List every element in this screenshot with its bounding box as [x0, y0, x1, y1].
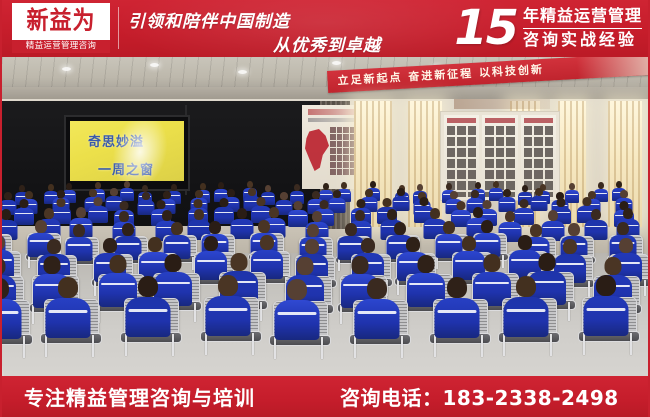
seated-attendee: [46, 277, 91, 338]
uniform-reflective-stripe: [277, 312, 317, 315]
attendee-head: [617, 222, 629, 235]
attendee-head: [122, 223, 134, 236]
attendee-head: [361, 238, 375, 253]
attendee-head: [2, 200, 3, 209]
attendee-head: [539, 253, 556, 271]
attendee-head: [247, 181, 253, 188]
attendee-head: [171, 222, 183, 235]
attendee-head: [57, 198, 66, 207]
attendee-head: [162, 210, 172, 221]
uniform-reflective-stripe: [121, 192, 133, 193]
chair-leg: [630, 333, 632, 355]
chair-leg: [644, 280, 646, 296]
uniform-reflective-stripe: [208, 308, 248, 311]
attendee-head: [569, 183, 575, 190]
attendee-head: [370, 181, 376, 188]
attendee-head: [124, 181, 130, 188]
attendee-head: [4, 192, 12, 200]
seated-attendee: [275, 279, 320, 340]
attendee-head: [520, 199, 529, 208]
attendee-head: [94, 197, 103, 206]
attendee-head: [44, 256, 61, 274]
attendee-head: [312, 211, 322, 222]
attendee-head: [57, 190, 65, 198]
slogan-line-2: 从优秀到卓越: [273, 31, 381, 56]
attendee-head: [462, 236, 476, 251]
attendee-head: [200, 183, 206, 190]
attendee-uniform: [499, 197, 516, 212]
attendee-head: [352, 256, 369, 274]
attendee-head: [312, 191, 320, 199]
attendee-uniform: [435, 298, 480, 338]
attendee-head: [95, 182, 101, 189]
attendee-uniform: [275, 300, 320, 340]
attendee-head: [44, 208, 54, 219]
attendee-head: [406, 237, 420, 252]
attendee-head: [563, 239, 577, 254]
attendee-head: [367, 278, 387, 299]
attendee-head: [387, 209, 397, 220]
chair-leg: [125, 334, 127, 356]
footer-phone: 咨询电话：183-2338-2498: [340, 382, 619, 411]
attendee-head: [620, 190, 628, 198]
seated-attendee: [2, 278, 22, 339]
attendee-head: [616, 181, 622, 188]
attendee-head: [294, 201, 303, 210]
attendee-head: [420, 197, 429, 206]
uniform-reflective-stripe: [232, 225, 252, 226]
attendee-head: [557, 198, 566, 207]
chair-leg: [194, 303, 196, 322]
attendee-head: [365, 189, 373, 197]
attendee-head: [110, 188, 118, 196]
attendee-head: [66, 183, 72, 190]
logo-subtitle: 精益运营管理咨询: [12, 40, 110, 53]
attendee-head: [89, 189, 97, 197]
attendee-head: [2, 257, 6, 275]
attendee-head: [119, 211, 129, 222]
attendee-head: [484, 254, 501, 272]
seated-attendee: [126, 276, 171, 337]
uniform-reflective-stripe: [500, 228, 520, 229]
chair-leg: [28, 255, 30, 268]
attendee-head: [58, 277, 78, 298]
attendee-head: [619, 238, 633, 253]
uniform-reflective-stripe: [437, 310, 477, 313]
attendee-head: [605, 257, 622, 275]
years-text-top: 年精益运营管理: [523, 7, 642, 25]
attendee-head: [237, 208, 247, 219]
attendee-uniform: [126, 297, 171, 337]
attendee-head: [446, 183, 452, 190]
attendee-head: [305, 239, 319, 254]
attendee-head: [258, 220, 270, 233]
attendee-head: [257, 197, 266, 206]
attendee-uniform: [355, 299, 400, 339]
attendee-head: [2, 209, 11, 220]
attendee-head: [47, 239, 61, 254]
attendee-head: [280, 192, 288, 200]
attendee-head: [287, 279, 307, 300]
attendee-head: [357, 199, 366, 208]
attendee-head: [535, 188, 543, 196]
attendee-head: [505, 211, 515, 222]
attendee-head: [522, 185, 528, 192]
slogan-block: 引领和陪伴中国制造 从优秀到卓越: [128, 2, 383, 54]
chair-leg: [92, 335, 94, 357]
header-banner: 新益为 精益运营管理咨询 引领和陪伴中国制造 从优秀到卓越 15 年精益运营管理…: [0, 0, 650, 57]
attendee-head: [103, 238, 117, 253]
attendee-head: [355, 210, 365, 221]
attendee-head: [25, 191, 33, 199]
chair-leg: [274, 337, 276, 359]
chair-leg: [338, 258, 340, 271]
attendee-head: [73, 224, 85, 237]
chair-leg: [321, 337, 323, 359]
chair-leg: [354, 336, 356, 358]
attendee-head: [323, 183, 329, 190]
logo-mark-text: 新益为: [26, 9, 95, 34]
attendee-uniform: [504, 297, 549, 337]
seated-attendee: [206, 275, 251, 336]
attendee-head: [165, 254, 182, 272]
attendee-head: [383, 198, 392, 207]
attendee-head: [320, 200, 329, 209]
uniform-reflective-stripe: [128, 309, 168, 312]
attendee-head: [450, 191, 458, 199]
chair-leg: [45, 335, 47, 357]
attendee-uniform: [2, 299, 22, 339]
attendee-head: [163, 191, 171, 199]
attendee-head: [568, 223, 580, 236]
promotional-banner-image: 新益为 精益运营管理咨询 引领和陪伴中国制造 从优秀到卓越 15 年精益运营管理…: [0, 0, 650, 417]
chair-leg: [94, 280, 96, 296]
attendee-head: [518, 235, 532, 250]
logo-mark: 新益为: [12, 3, 110, 40]
attendee-head: [591, 209, 601, 220]
attendee-head: [171, 184, 177, 191]
chair-leg: [550, 334, 552, 356]
company-logo: 新益为 精益运营管理咨询: [12, 3, 110, 53]
audience-crowd: [2, 57, 648, 376]
seated-attendee: [504, 276, 549, 337]
attendee-head: [307, 224, 319, 237]
slogan-line-1: 引领和陪伴中国制造: [128, 7, 290, 32]
attendee-head: [20, 199, 29, 208]
attendee-head: [260, 235, 274, 250]
years-text-bottom: 咨询实战经验: [523, 31, 642, 49]
chair-leg: [481, 335, 483, 357]
chair-leg: [172, 334, 174, 356]
seated-attendee: [435, 277, 480, 338]
uniform-reflective-stripe: [506, 309, 546, 312]
years-text: 年精益运营管理 咨询实战经验: [523, 7, 642, 49]
attendee-head: [218, 275, 238, 296]
attendee-head: [2, 235, 5, 250]
attendee-head: [35, 220, 47, 233]
attendee-head: [194, 199, 203, 208]
footer-tagline: 专注精益管理咨询与培训: [24, 382, 255, 411]
logo-divider: [118, 7, 119, 49]
attendee-head: [138, 276, 158, 297]
attendee-head: [457, 201, 466, 210]
chair-leg: [23, 336, 25, 358]
attendee-head: [345, 223, 357, 236]
uniform-reflective-stripe: [519, 196, 531, 197]
attendee-head: [583, 197, 592, 206]
attendee-head: [397, 188, 405, 196]
attendee-head: [120, 201, 129, 210]
attendee-head: [430, 208, 440, 219]
attendee-head: [471, 190, 479, 198]
attendee-uniform: [206, 296, 251, 336]
attendee-uniform: [46, 298, 91, 338]
attendee-uniform: [584, 296, 629, 336]
uniform-reflective-stripe: [48, 310, 88, 313]
seated-attendee: [355, 278, 400, 339]
years-divider: [523, 28, 642, 30]
attendee-head: [443, 221, 455, 234]
attendee-head: [157, 200, 166, 209]
chair-leg: [205, 333, 207, 355]
attendee-head: [394, 222, 406, 235]
attendee-head: [623, 208, 633, 219]
attendee-head: [110, 255, 127, 273]
chair-leg: [434, 335, 436, 357]
attendee-head: [195, 190, 203, 198]
attendee-head: [341, 182, 347, 189]
attendee-head: [220, 198, 229, 207]
attendee-head: [194, 209, 204, 220]
attendee-head: [503, 189, 511, 197]
uniform-reflective-stripe: [357, 311, 397, 314]
attendee-head: [269, 207, 279, 218]
attendee-head: [76, 207, 86, 218]
attendee-head: [294, 184, 300, 191]
uniform-reflective-stripe: [15, 213, 33, 214]
attendee-head: [209, 221, 221, 234]
attendee-head: [598, 182, 604, 189]
attendee-head: [297, 257, 314, 275]
chair-leg: [568, 302, 570, 321]
attendee-head: [142, 192, 150, 200]
attendee-head: [473, 207, 483, 218]
chair-leg: [401, 336, 403, 358]
attendee-head: [333, 190, 341, 198]
attendee-head: [596, 275, 616, 296]
uniform-reflective-stripe: [291, 195, 303, 196]
attendee-head: [447, 277, 467, 298]
seated-attendee: [499, 189, 516, 212]
uniform-reflective-stripe: [2, 311, 19, 314]
attendee-head: [218, 182, 224, 189]
chair-leg: [583, 333, 585, 355]
attendee-head: [481, 220, 493, 233]
attendee-head: [493, 181, 499, 188]
seated-attendee: [584, 275, 629, 336]
attendee-head: [475, 182, 481, 189]
training-session-photo: 奇思妙溢 一周之窗 立足新起点 奋进新征程 以科技创新: [2, 57, 648, 376]
attendee-head: [248, 188, 256, 196]
chair-leg: [252, 333, 254, 355]
attendee-head: [2, 278, 9, 299]
uniform-reflective-stripe: [67, 244, 91, 246]
attendee-head: [204, 236, 218, 251]
attendee-head: [231, 253, 248, 271]
chair-leg: [503, 334, 505, 356]
uniform-reflective-stripe: [586, 308, 626, 311]
experience-block: 15 年精益运营管理 咨询实战经验: [454, 0, 642, 57]
attendee-head: [265, 185, 271, 192]
footer-banner: 专注精益管理咨询与培训 咨询电话：183-2338-2498: [0, 376, 650, 417]
years-number: 15: [454, 4, 523, 52]
attendee-head: [516, 276, 536, 297]
attendee-head: [417, 184, 423, 191]
attendee-head: [148, 237, 162, 252]
attendee-head: [548, 210, 558, 221]
attendee-head: [142, 185, 148, 192]
uniform-reflective-stripe: [586, 226, 606, 227]
chair-leg: [260, 302, 262, 321]
uniform-reflective-stripe: [289, 215, 307, 216]
attendee-head: [227, 189, 235, 197]
uniform-reflective-stripe: [500, 202, 515, 203]
attendee-head: [418, 255, 435, 273]
